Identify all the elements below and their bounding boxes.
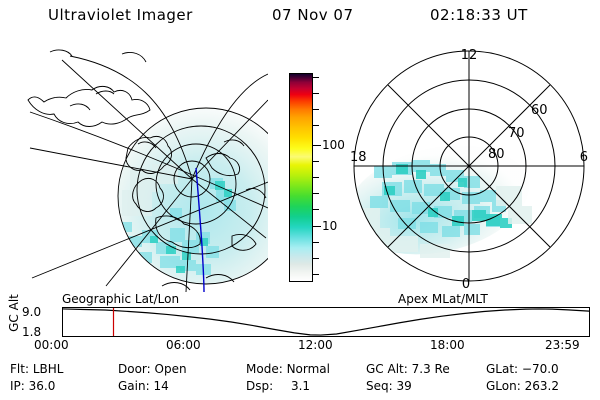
observation-date: 07 Nov 07 (272, 6, 354, 24)
status-glon: GLon: 263.2 (486, 379, 559, 393)
mlt-label-12: 12 (461, 48, 478, 63)
status-seq-value: 39 (397, 379, 412, 393)
mlat-label-70: 70 (508, 126, 525, 141)
status-mode-value: Normal (287, 362, 330, 376)
status-glon-value: 263.2 (525, 379, 559, 393)
status-door-key: Door: (118, 362, 151, 376)
status-door: Door: Open (118, 362, 187, 376)
status-door-value: Open (155, 362, 187, 376)
aurora-emission-geographic (118, 108, 268, 284)
geographic-panel-caption: Geographic Lat/Lon (62, 292, 179, 306)
status-glat-value: −70.0 (522, 362, 559, 376)
altitude-timeline-plot[interactable] (62, 307, 590, 337)
instrument-title: Ultraviolet Imager (48, 6, 193, 24)
status-gcalt-key: GC Alt: (366, 362, 408, 376)
altitude-curve-svg (63, 308, 589, 336)
status-ip: IP: 36.0 (10, 379, 55, 393)
time-tick-2359: 23:59 (545, 338, 580, 352)
status-mode-key: Mode: (246, 362, 283, 376)
status-dsp: Dsp: 3.1 (246, 379, 310, 393)
magnetic-polar-svg: 12 0 18 6 60 70 80 (340, 40, 598, 292)
status-gcalt-value: 7.3 Re (412, 362, 450, 376)
status-dsp-value: 3.1 (277, 379, 310, 393)
altitude-timeline-section: Geographic Lat/Lon Apex MLat/MLT GC Alt … (0, 292, 600, 354)
status-gain-value: 14 (153, 379, 168, 393)
altitude-axis-label: GC Alt (7, 283, 21, 343)
time-tick-0600: 06:00 (166, 338, 201, 352)
time-tick-0000: 00:00 (34, 338, 69, 352)
status-gain: Gain: 14 (118, 379, 169, 393)
status-seq-key: Seq: (366, 379, 393, 393)
mlt-label-0: 0 (462, 277, 470, 292)
status-filter: Flt: LBHL (10, 362, 63, 376)
mlt-spokes (354, 51, 584, 281)
geographic-map-panel[interactable] (10, 40, 268, 292)
status-gain-key: Gain: (118, 379, 150, 393)
status-glon-key: GLon: (486, 379, 521, 393)
colorbar-gradient (289, 73, 313, 282)
geographic-map-svg (10, 40, 268, 292)
aurora-emission-magnetic (340, 130, 539, 270)
status-gcalt: GC Alt: 7.3 Re (366, 362, 450, 376)
status-mode: Mode: Normal (246, 362, 330, 376)
altitude-ytick-low: 1.8 (22, 325, 41, 339)
magnetic-polar-panel[interactable]: 12 0 18 6 60 70 80 (340, 40, 598, 292)
status-ip-value: 36.0 (29, 379, 56, 393)
status-filter-value: LBHL (33, 362, 64, 376)
altitude-ytick-high: 9.0 (22, 305, 41, 319)
mlt-label-18: 18 (350, 150, 367, 165)
status-ip-key: IP: (10, 379, 25, 393)
magnetic-panel-caption: Apex MLat/MLT (398, 292, 488, 306)
status-dsp-key: Dsp: (246, 379, 273, 393)
observation-time: 02:18:33 UT (430, 6, 528, 24)
uvi-display-root: Ultraviolet Imager 07 Nov 07 02:18:33 UT (0, 0, 600, 400)
time-tick-1800: 18:00 (430, 338, 465, 352)
colorbar-tick-marks (313, 73, 321, 282)
status-glat-key: GLat: (486, 362, 518, 376)
altitude-curve (63, 309, 589, 335)
header-bar: Ultraviolet Imager 07 Nov 07 02:18:33 UT (0, 6, 600, 30)
time-tick-1200: 12:00 (298, 338, 333, 352)
mlat-label-80: 80 (488, 147, 505, 162)
mlt-label-6: 6 (580, 150, 588, 165)
colorbar-tick-label-10: 10 (322, 219, 337, 233)
mlat-label-60: 60 (531, 103, 548, 118)
status-filter-key: Flt: (10, 362, 29, 376)
status-seq: Seq: 39 (366, 379, 412, 393)
colorbar-group: photon cm⁻²s⁻¹ 100 10 (268, 48, 342, 294)
status-block: Flt: LBHL IP: 36.0 Door: Open Gain: 14 M… (0, 362, 600, 400)
status-glat: GLat: −70.0 (486, 362, 559, 376)
